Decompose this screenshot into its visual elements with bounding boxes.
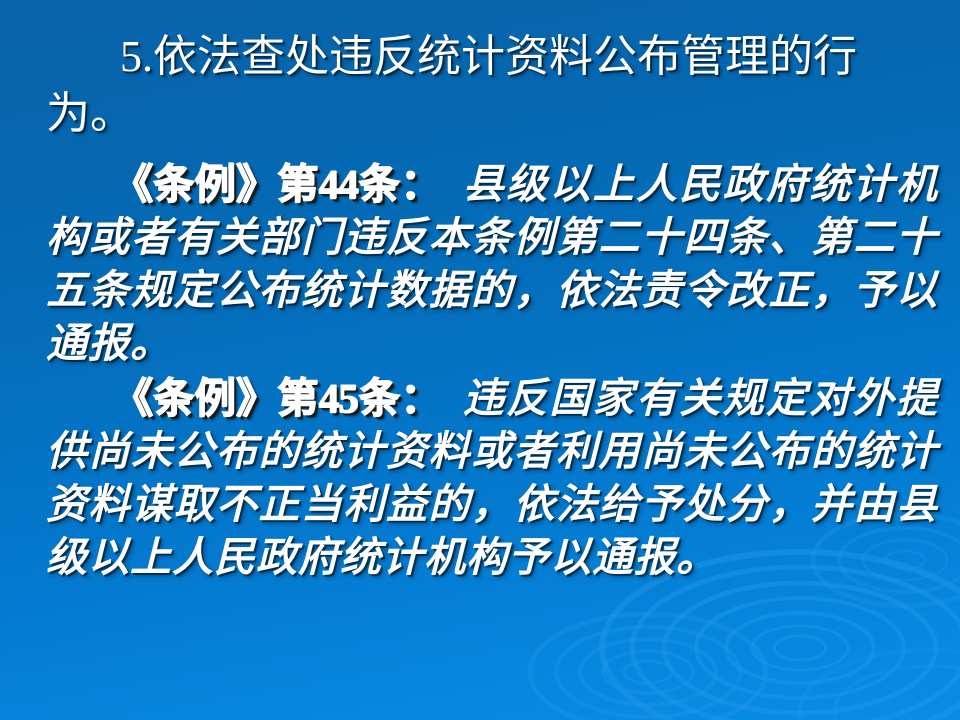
paragraph-lead-article-45: 《条例》第45条： — [112, 375, 448, 421]
slide-content: 5.依法查处违反统计资料公布管理的行为。 《条例》第44条：县级以上人民政府统计… — [0, 0, 960, 720]
paragraph-lead-article-44: 《条例》第44条： — [112, 161, 448, 207]
presentation-slide: 5.依法查处违反统计资料公布管理的行为。 《条例》第44条：县级以上人民政府统计… — [0, 0, 960, 720]
paragraph-article-45: 《条例》第45条：违反国家有关规定对外提供尚未公布的统计资料或者利用尚未公布的统… — [46, 372, 938, 584]
paragraph-article-44: 《条例》第44条：县级以上人民政府统计机构或者有关部门违反本条例第二十四条、第二… — [46, 158, 938, 370]
page-title: 5.依法查处违反统计资料公布管理的行为。 — [46, 28, 926, 142]
